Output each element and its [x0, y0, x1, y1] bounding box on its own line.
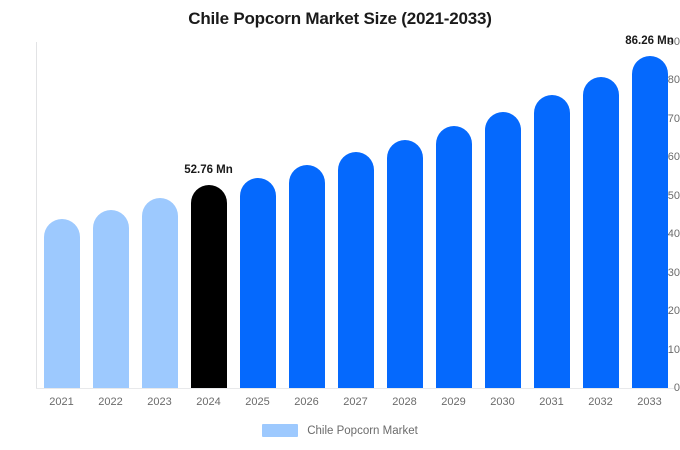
y-axis-tick-label: 60	[654, 151, 680, 163]
bar-2021[interactable]	[44, 42, 80, 388]
y-axis-tick-label: 70	[654, 113, 680, 125]
bar-rect-2028[interactable]	[387, 140, 423, 388]
bar-2030[interactable]	[485, 42, 521, 388]
y-axis-tick-label: 40	[654, 228, 680, 240]
chart-legend: Chile Popcorn Market	[0, 424, 680, 437]
bar-2029[interactable]	[436, 42, 472, 388]
x-axis-tick-label-2033: 2033	[620, 396, 680, 408]
bar-rect-2021[interactable]	[44, 219, 80, 388]
bar-rect-2033[interactable]	[632, 56, 668, 388]
bar-rect-2029[interactable]	[436, 126, 472, 388]
bar-rect-2030[interactable]	[485, 112, 521, 388]
plot-area	[37, 42, 674, 388]
bar-rect-2032[interactable]	[583, 77, 619, 388]
bar-2027[interactable]	[338, 42, 374, 388]
y-axis-tick-label: 30	[654, 267, 680, 279]
y-axis-tick-label: 50	[654, 190, 680, 202]
chart-title: Chile Popcorn Market Size (2021-2033)	[0, 9, 680, 29]
value-label-2024: 52.76 Mn	[164, 164, 254, 176]
bar-2025[interactable]	[240, 42, 276, 388]
bar-2031[interactable]	[534, 42, 570, 388]
bar-2028[interactable]	[387, 42, 423, 388]
y-axis	[0, 0, 30, 450]
bar-chart: Chile Popcorn Market Size (2021-2033) Ch…	[0, 0, 680, 450]
y-axis-tick-label: 10	[654, 344, 680, 356]
legend-label-chile-popcorn-market: Chile Popcorn Market	[307, 425, 418, 437]
bar-rect-2023[interactable]	[142, 198, 178, 388]
bar-rect-2027[interactable]	[338, 152, 374, 388]
bar-2033[interactable]	[632, 42, 668, 388]
legend-swatch-chile-popcorn-market	[262, 424, 298, 437]
bar-rect-2025[interactable]	[240, 178, 276, 388]
value-label-2033: 86.26 Mn	[605, 35, 680, 47]
bar-rect-2022[interactable]	[93, 210, 129, 388]
y-axis-tick-label: 20	[654, 305, 680, 317]
bar-2024[interactable]	[191, 42, 227, 388]
bar-2023[interactable]	[142, 42, 178, 388]
bar-2032[interactable]	[583, 42, 619, 388]
bar-2022[interactable]	[93, 42, 129, 388]
x-axis-line	[36, 388, 674, 389]
bar-rect-2031[interactable]	[534, 95, 570, 388]
bar-2026[interactable]	[289, 42, 325, 388]
y-axis-tick-label: 80	[654, 74, 680, 86]
y-axis-tick-label: 0	[654, 382, 680, 394]
bar-rect-2024[interactable]	[191, 185, 227, 388]
bar-rect-2026[interactable]	[289, 165, 325, 388]
